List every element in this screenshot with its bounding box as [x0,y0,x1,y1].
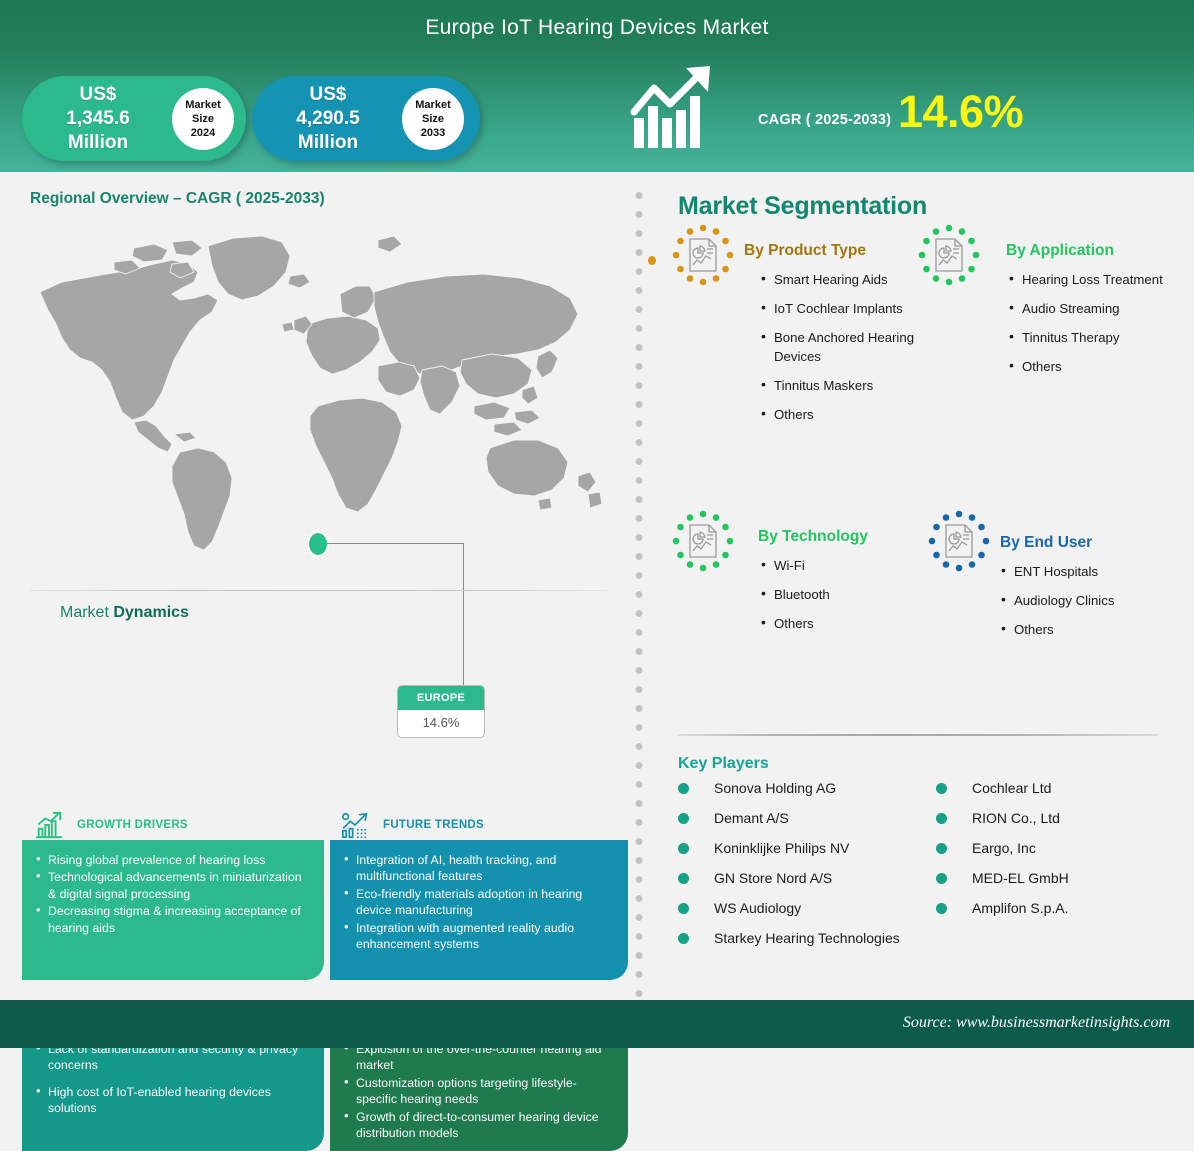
trend-forecast-icon [340,810,370,840]
regional-overview-title: Regional Overview – CAGR ( 2025-2033) [30,190,325,208]
callout-leader-horizontal [327,543,463,544]
divider-accent-dot [648,256,656,265]
list-item: Koninklijke Philips NV [678,838,900,858]
future-trends-list: Integration of AI, health tracking, and … [344,852,616,952]
key-player-name: WS Audiology [714,900,801,916]
left-column: Regional Overview – CAGR ( 2025-2033) [0,172,625,1000]
market-size-2033-badge: MarketSize2033 [402,88,464,150]
segment-title-application: By Application [1006,242,1114,260]
list-item: Technological advancements in miniaturiz… [36,869,312,902]
europe-callout: EUROPE 14.6% [397,685,485,738]
list-item: Starkey Hearing Technologies [678,928,900,948]
key-player-name: Cochlear Ltd [972,780,1051,796]
list-item: Growth of direct-to-consumer hearing dev… [344,1109,616,1142]
list-item: Integration with augmented reality audio… [344,920,616,953]
pie-document-icon [672,510,734,572]
bullet-dot [678,873,689,884]
segment-title-technology: By Technology [758,528,868,546]
list-item: Eco-friendly materials adoption in heari… [344,886,616,919]
pie-document-icon [672,224,734,286]
list-item: ENT Hospitals [1000,562,1180,581]
world-map-svg [22,220,607,550]
key-player-name: GN Store Nord A/S [714,870,832,886]
key-player-name: MED-EL GmbH [972,870,1069,886]
list-item: Others [760,405,940,424]
bullet-dot [936,903,947,914]
segment-title-end-user: By End User [1000,534,1092,552]
europe-callout-region: EUROPE [398,686,484,710]
restraints-list: Lack of standardization and security & p… [36,1041,312,1117]
future-trends-label: FUTURE TRENDS [383,819,484,831]
future-trends-header: FUTURE TRENDS [340,810,484,840]
key-players-title: Key Players [678,755,769,773]
right-column: Market Segmentation [660,172,1194,1000]
column-dotted-divider [634,186,644,998]
list-item: Others [1008,357,1168,376]
world-map [22,220,607,550]
market-size-2033-value: US$4,290.5Million [256,83,400,155]
list-item: Customization options targeting lifestyl… [344,1075,616,1108]
bullet-dot [678,903,689,914]
key-player-name: Amplifon S.p.A. [972,900,1069,916]
list-item: Others [760,614,920,633]
key-player-name: Koninklijke Philips NV [714,840,849,856]
list-item: Rising global prevalence of hearing loss [36,852,312,868]
segment-list-technology: Wi-Fi Bluetooth Others [760,556,920,643]
key-player-name: Starkey Hearing Technologies [714,930,900,946]
market-size-2024-pill: US$1,345.6Million MarketSize2024 [22,76,246,161]
segment-title-product-type: By Product Type [744,242,866,260]
bullet-dot [936,783,947,794]
market-size-2024-value: US$1,345.6Million [26,83,170,155]
list-item: Hearing Loss Treatment [1008,270,1168,289]
list-item: Eargo, Inc [936,838,1069,858]
key-players-column-2: Cochlear Ltd RION Co., Ltd Eargo, Inc ME… [936,778,1069,928]
list-item: Smart Hearing Aids [760,270,940,289]
infographic-page: Europe IoT Hearing Devices Market US$1,3… [0,0,1194,1048]
list-item: Tinnitus Therapy [1008,328,1168,347]
growth-drivers-list: Rising global prevalence of hearing loss… [36,852,312,936]
europe-callout-value: 14.6% [398,710,484,737]
list-item: Audio Streaming [1008,299,1168,318]
bullet-dot [678,843,689,854]
list-item: Bluetooth [760,585,920,604]
list-item: High cost of IoT-enabled hearing devices… [36,1084,312,1117]
europe-map-marker [307,531,329,557]
list-item: Bone Anchored Hearing Devices [760,328,940,366]
market-dynamics-title-bold: Dynamics [113,604,189,621]
list-item: Others [1000,620,1180,639]
bullet-dot [936,813,947,824]
key-players-column-1: Sonova Holding AG Demant A/S Koninklijke… [678,778,900,958]
segment-list-end-user: ENT Hospitals Audiology Clinics Others [1000,562,1180,649]
segment-list-application: Hearing Loss Treatment Audio Streaming T… [1008,270,1168,386]
bullet-dot [936,873,947,884]
market-segmentation-title: Market Segmentation [678,192,927,221]
footer-bar: Source: www.businessmarketinsights.com [0,1000,1194,1048]
future-trends-box: Integration of AI, health tracking, and … [330,840,628,980]
pie-document-icon [918,224,980,286]
list-item: Tinnitus Maskers [760,376,940,395]
opportunity-list: Explosion of the over-the-counter hearin… [344,1041,616,1141]
list-item: Wi-Fi [760,556,920,575]
key-player-name: Demant A/S [714,810,789,826]
bullet-dot [678,813,689,824]
key-player-name: RION Co., Ltd [972,810,1060,826]
list-item: Audiology Clinics [1000,591,1180,610]
bullet-dot [678,783,689,794]
bar-chart-up-arrow-icon [34,810,64,840]
cagr-label: CAGR ( 2025-2033) [758,112,891,128]
growth-drivers-header: GROWTH DRIVERS [34,810,188,840]
growth-drivers-label: GROWTH DRIVERS [77,819,188,831]
bullet-dot [678,933,689,944]
source-text: Source: www.businessmarketinsights.com [903,1014,1170,1032]
list-item: Demant A/S [678,808,900,828]
list-item: WS Audiology [678,898,900,918]
list-item: Amplifon S.p.A. [936,898,1069,918]
list-item: IoT Cochlear Implants [760,299,940,318]
list-item: Cochlear Ltd [936,778,1069,798]
list-item: Decreasing stigma & increasing acceptanc… [36,903,312,936]
list-item: GN Store Nord A/S [678,868,900,888]
market-size-2024-badge: MarketSize2024 [172,88,234,150]
list-item: MED-EL GmbH [936,868,1069,888]
page-title: Europe IoT Hearing Devices Market [0,16,1194,40]
pie-document-icon [928,510,990,572]
market-dynamics-title: Market Dynamics [60,604,189,622]
cagr-group: CAGR ( 2025-2033) 14.6% [630,66,1100,158]
key-players-divider [678,734,1158,736]
growth-arrow-bar-chart-icon [630,66,722,152]
cagr-value: 14.6% [898,86,1023,138]
segment-list-product-type: Smart Hearing Aids IoT Cochlear Implants… [760,270,940,434]
list-item: Sonova Holding AG [678,778,900,798]
list-item: Integration of AI, health tracking, and … [344,852,616,885]
growth-drivers-box: Rising global prevalence of hearing loss… [22,840,324,980]
market-dynamics-title-light: Market [60,604,113,621]
header-banner: Europe IoT Hearing Devices Market US$1,3… [0,0,1194,172]
bullet-dot [936,843,947,854]
market-size-2033-pill: US$4,290.5Million MarketSize2033 [252,76,480,161]
key-player-name: Sonova Holding AG [714,780,836,796]
left-section-divider [30,590,610,591]
key-player-name: Eargo, Inc [972,840,1036,856]
list-item: RION Co., Ltd [936,808,1069,828]
